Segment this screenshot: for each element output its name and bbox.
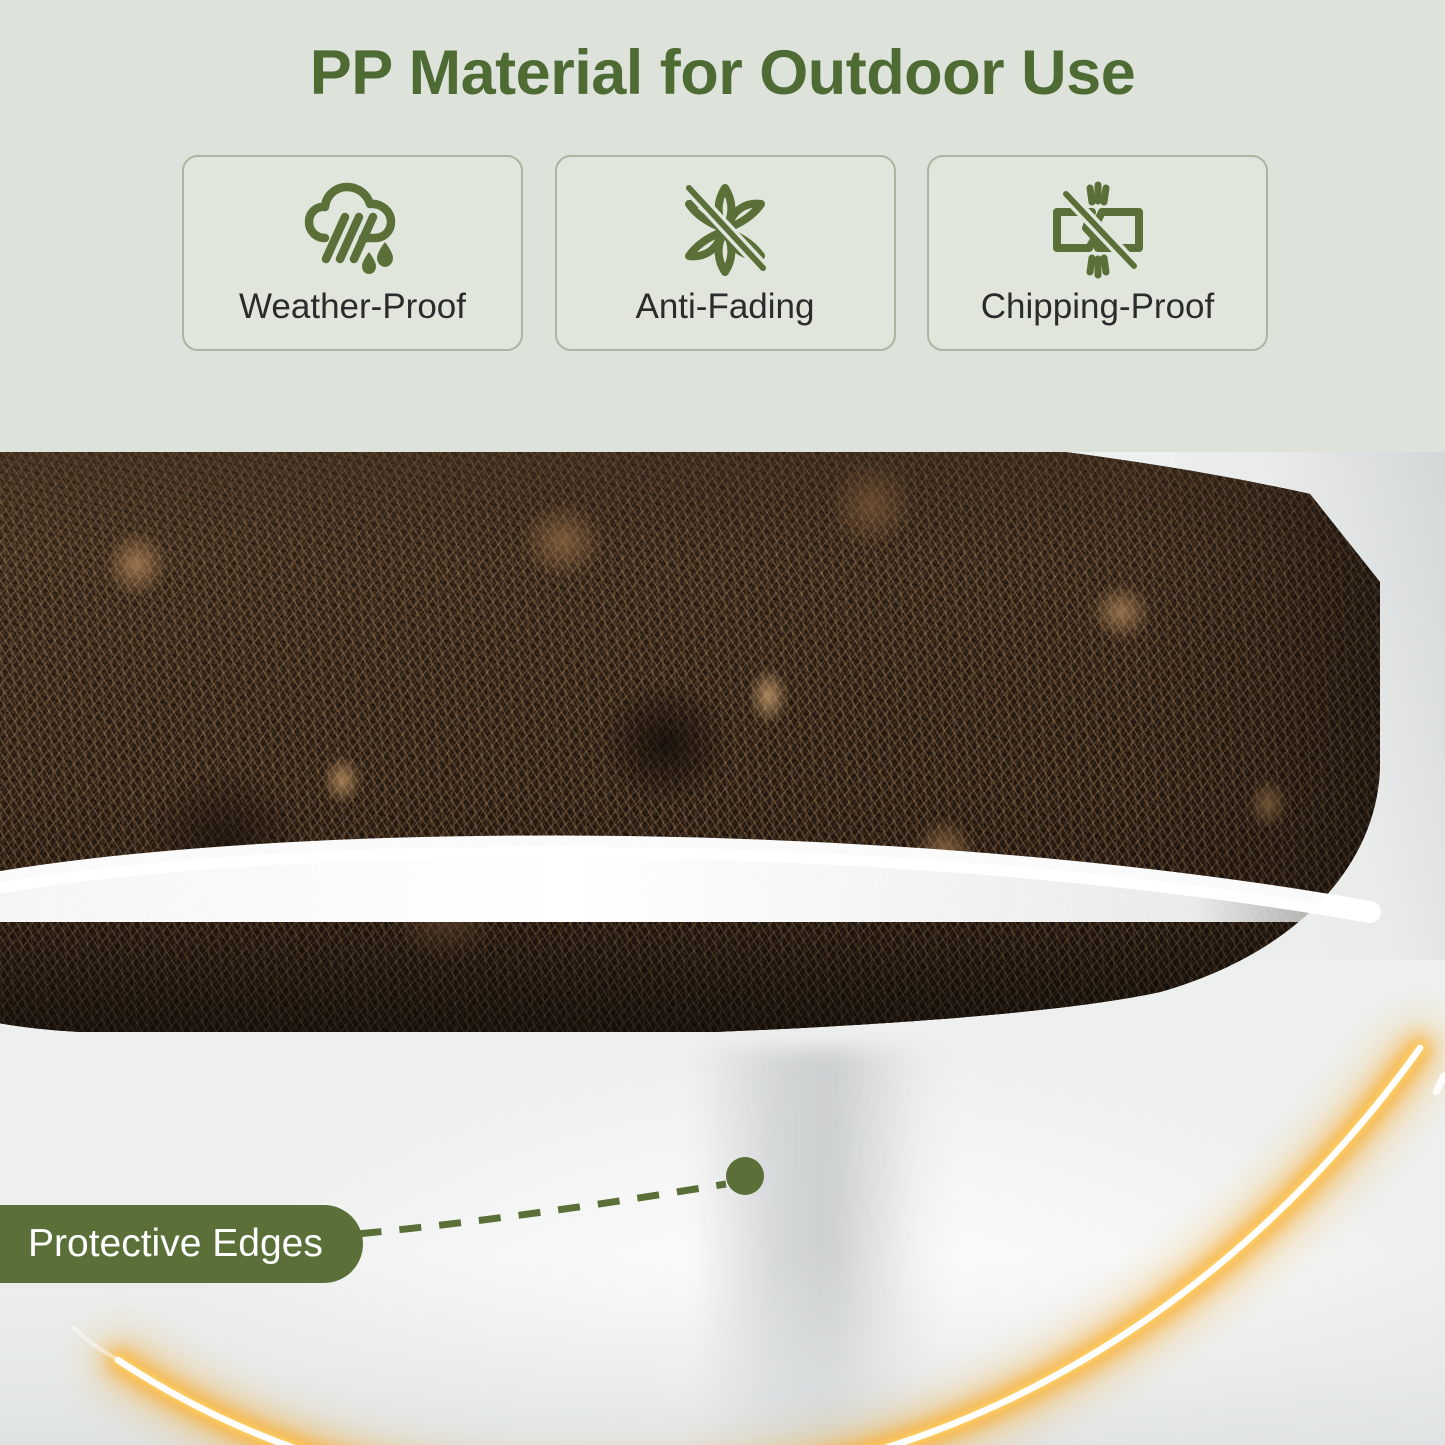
floor-shading	[0, 1255, 1445, 1445]
callout-marker-dot	[726, 1157, 764, 1195]
planter-top-rim	[0, 802, 1445, 922]
no-chipping-panel-icon	[1046, 177, 1150, 283]
feature-badge-row: Weather-Proof	[182, 155, 1268, 351]
badge-label: Chipping-Proof	[981, 287, 1214, 327]
rain-cloud-icon	[301, 177, 405, 283]
badge-label: Weather-Proof	[239, 287, 466, 327]
soil-region	[0, 432, 1430, 1032]
page-title: PP Material for Outdoor Use	[0, 40, 1445, 106]
callout-protective-edges[interactable]: Protective Edges	[0, 1205, 363, 1283]
callout-label: Protective Edges	[28, 1222, 323, 1266]
badge-chipping-proof[interactable]: Chipping-Proof	[927, 155, 1268, 351]
product-feature-graphic: PP Material for Outdoor Use	[0, 0, 1445, 1445]
badge-weather-proof[interactable]: Weather-Proof	[182, 155, 523, 351]
badge-label: Anti-Fading	[636, 287, 815, 327]
product-photo	[0, 400, 1445, 1445]
no-fade-flower-icon	[673, 177, 777, 283]
badge-anti-fading[interactable]: Anti-Fading	[555, 155, 896, 351]
